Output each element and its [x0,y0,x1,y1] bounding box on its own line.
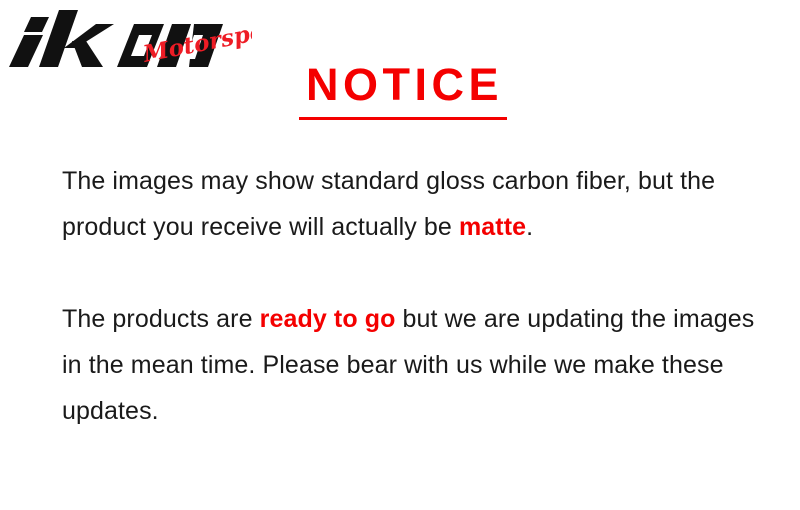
brand-logo: Motorsports [2,4,252,70]
page-title: NOTICE [260,62,545,107]
notice-body: The images may show standard gloss carbo… [62,158,762,434]
paragraph-1-segment-3: . [526,213,533,241]
emphasis-matte: matte [459,213,526,241]
emphasis-ready-to-go: ready to go [260,305,396,333]
notice-paragraph-1: The images may show standard gloss carbo… [62,158,762,250]
notice-heading-block: NOTICE [260,62,545,120]
paragraph-2-segment-1: The products are [62,305,260,333]
paragraph-spacer [62,250,762,296]
ikon-motorsports-logo-graphic: Motorsports [2,4,252,70]
title-underline [299,117,507,120]
notice-paragraph-2: The products are ready to go but we are … [62,296,762,434]
paragraph-1-segment-1: The images may show standard gloss carbo… [62,167,715,241]
